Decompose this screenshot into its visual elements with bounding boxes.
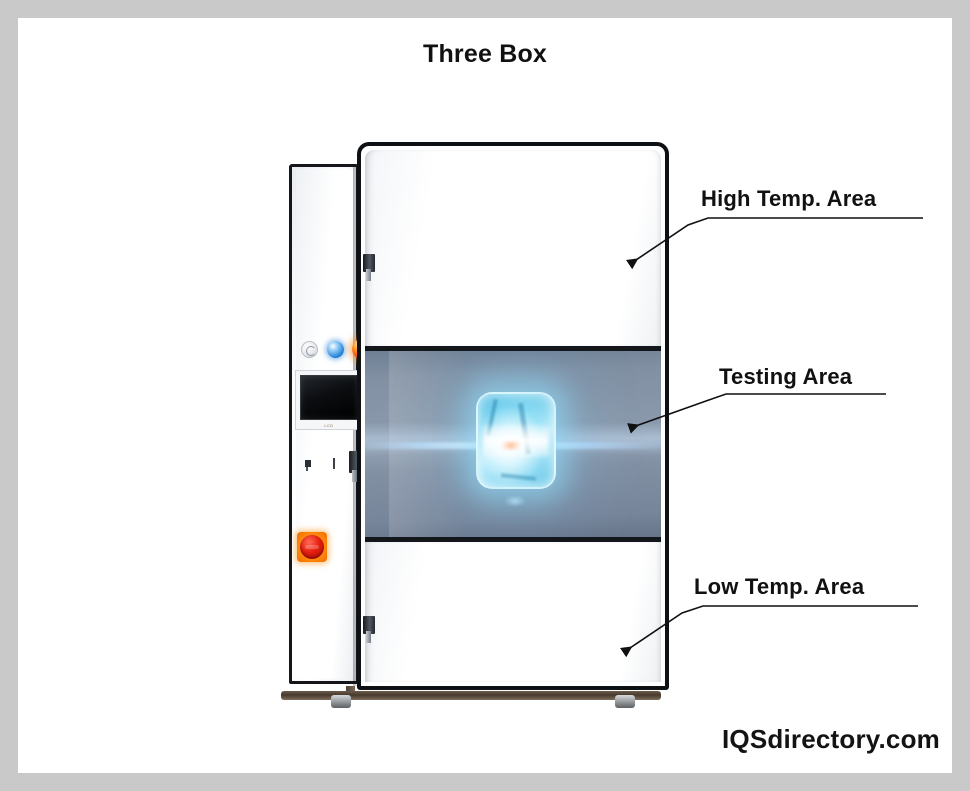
callout-label-low-temp: Low Temp. Area	[694, 574, 864, 600]
leveling-foot-left	[331, 695, 351, 708]
figure-canvas: Three Box LCD	[18, 18, 952, 773]
callout-low-temp-area: Low Temp. Area	[18, 566, 952, 686]
figure-frame: Three Box LCD	[0, 0, 970, 791]
window-vein-3	[501, 473, 536, 481]
emergency-stop-housing	[297, 532, 327, 562]
callout-label-testing-area: Testing Area	[719, 364, 852, 390]
callout-label-high-temp: High Temp. Area	[701, 186, 876, 212]
emergency-stop-button[interactable]	[300, 535, 324, 559]
leveling-foot-right	[615, 695, 635, 708]
watermark-label: IQSdirectory.com	[722, 724, 940, 755]
band-reflection-dot	[504, 495, 526, 507]
callout-high-temp-area: High Temp. Area	[18, 178, 952, 308]
callout-testing-area: Testing Area	[18, 356, 952, 466]
page-title: Three Box	[18, 40, 952, 69]
